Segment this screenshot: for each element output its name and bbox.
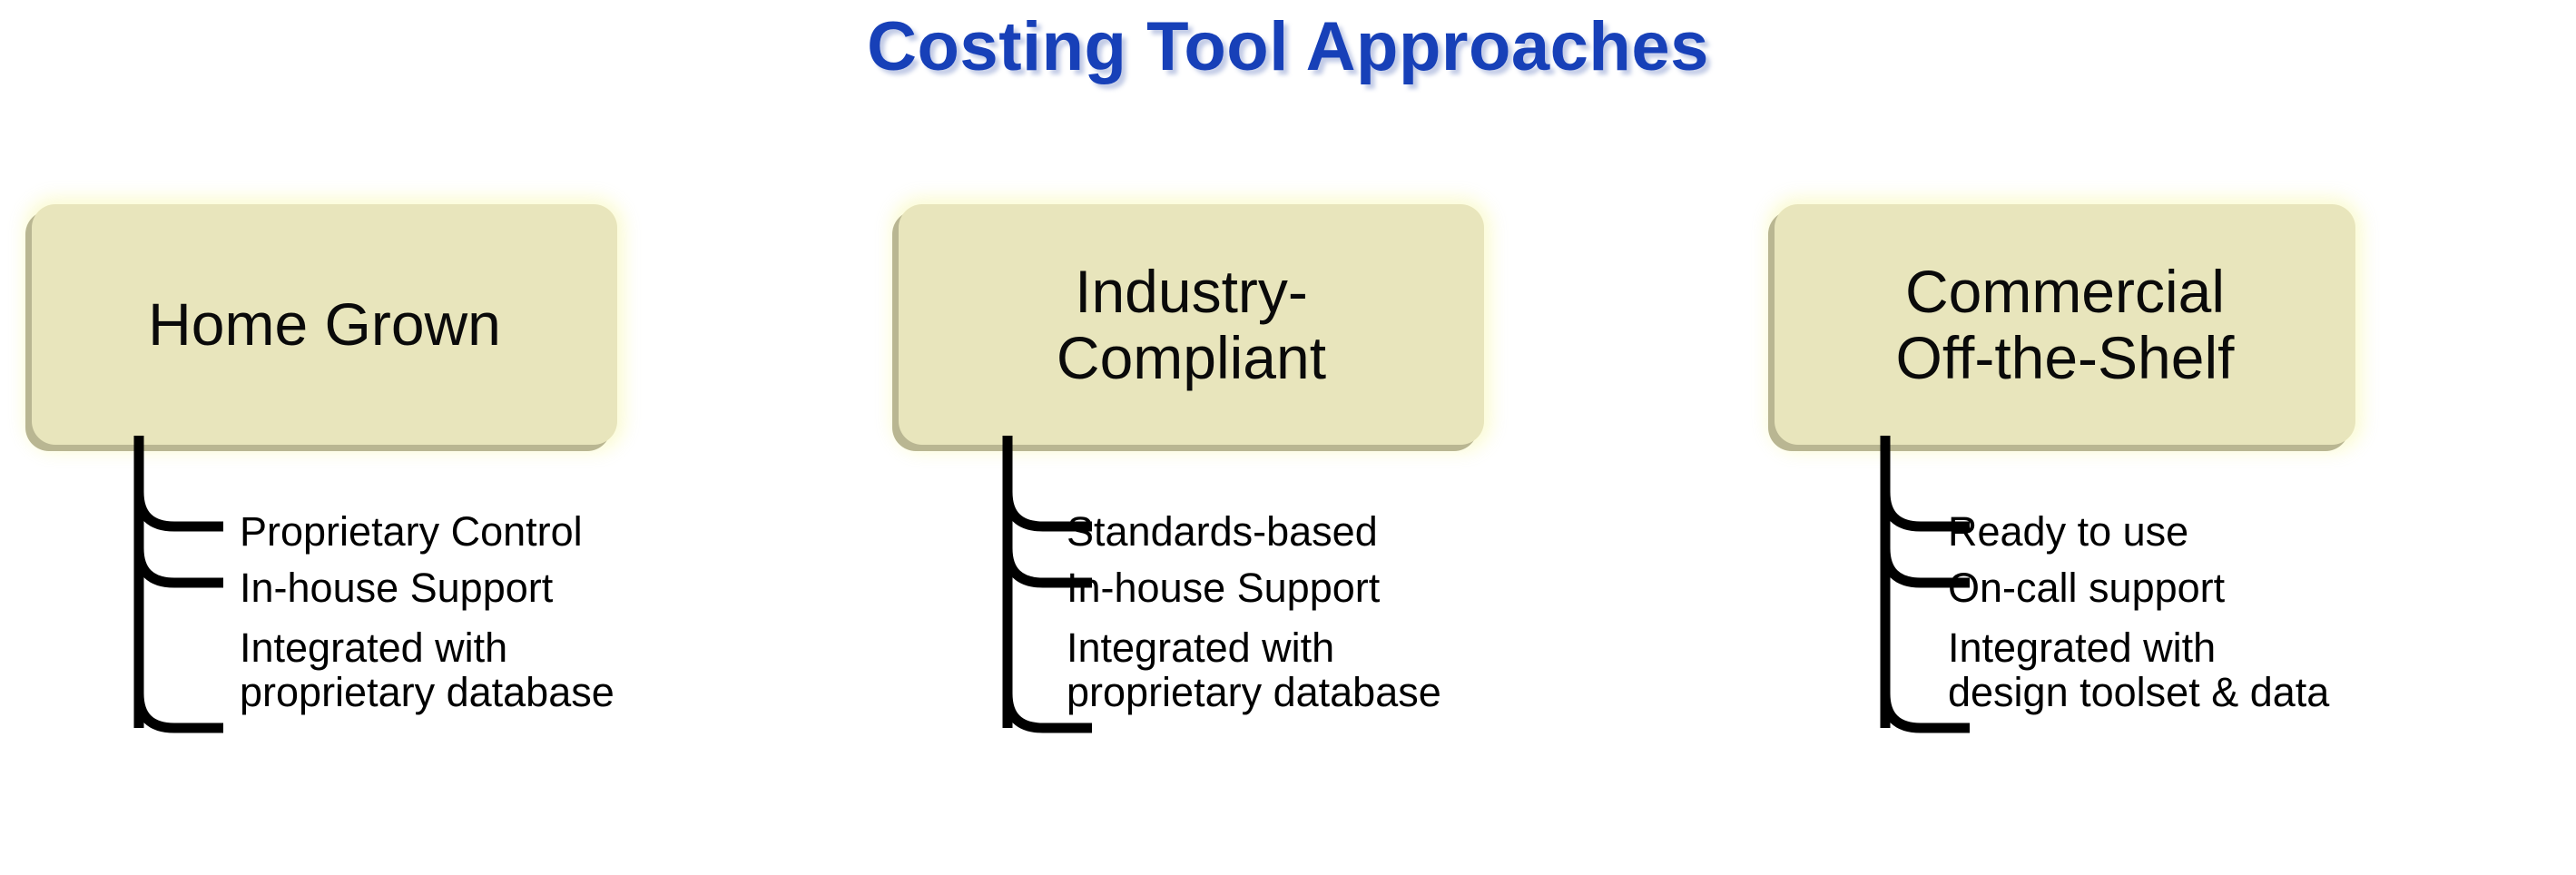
leaf-label: In-house Support (1067, 566, 1380, 611)
node-box-label: Commercial Off-the-Shelf (1883, 259, 2247, 390)
leaf-label: Standards-based (1067, 510, 1378, 555)
node-box-home-grown[interactable]: Home Grown (32, 204, 617, 445)
leaf-label: Proprietary Control (240, 510, 583, 555)
leaf-label: Ready to use (1948, 510, 2188, 555)
node-box-label: Industry- Compliant (1044, 259, 1339, 390)
diagram-canvas: Costing Tool Approaches Home Grown Propr… (0, 0, 2576, 875)
branch-column-home-grown: Home Grown Proprietary Control In-house … (0, 0, 817, 875)
node-box-commercial-off-the-shelf[interactable]: Commercial Off-the-Shelf (1775, 204, 2355, 445)
leaf-label: On-call support (1948, 566, 2225, 611)
node-box-industry-compliant[interactable]: Industry- Compliant (899, 204, 1484, 445)
leaf-label: Integrated with proprietary database (240, 626, 615, 714)
elbow-branch-3 (139, 693, 223, 728)
leaf-label: In-house Support (240, 566, 553, 611)
branch-column-industry-compliant: Industry- Compliant Standards-based In-h… (867, 0, 1684, 875)
branch-column-commercial-off-the-shelf: Commercial Off-the-Shelf Ready to use On… (1743, 0, 2560, 875)
leaf-label: Integrated with design toolset & data (1948, 626, 2329, 714)
elbow-branch-1 (139, 492, 223, 526)
node-box-label: Home Grown (135, 291, 514, 358)
leaf-label: Integrated with proprietary database (1067, 626, 1441, 714)
elbow-branch-2 (139, 548, 223, 583)
